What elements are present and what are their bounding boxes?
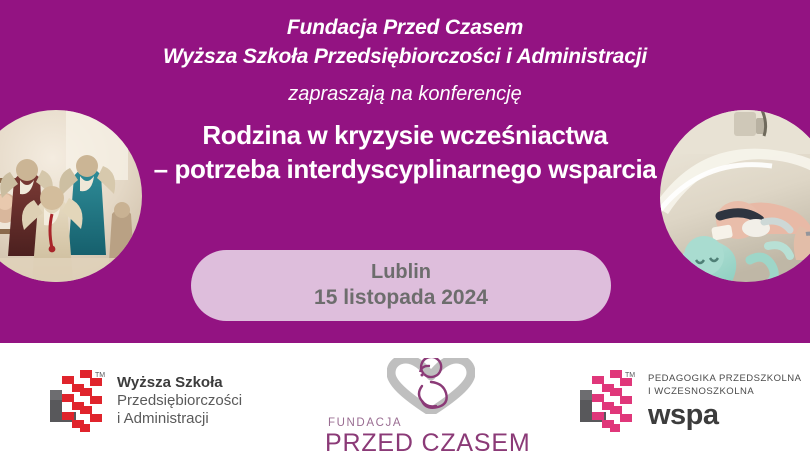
event-details-pill: Lublin 15 listopada 2024 — [191, 250, 611, 321]
invitation-line: zapraszają na konferencję — [0, 81, 810, 107]
heart-baby-icon — [387, 358, 475, 419]
pedagogika-line-1: PEDAGOGIKA PRZEDSZKOLNA — [648, 372, 802, 385]
logo-wyzsza-szkola: TM Wyższa Szkoła Przedsiębiorczości i Ad… — [48, 368, 242, 434]
trademark-symbol: TM — [95, 372, 105, 379]
title-line-2: – potrzeba interdyscyplinarnego wsparcia — [0, 152, 810, 186]
wspa-wordmark: wspa — [648, 400, 802, 431]
event-date: 15 listopada 2024 — [314, 284, 488, 311]
logo-fundacja-przed-czasem: FUNDACJA PRZED CZASEM — [325, 358, 530, 456]
organizers-block: Fundacja Przed Czasem Wyższa Szkoła Prze… — [0, 13, 810, 71]
logo-pedagogika-wspa: TM PEDAGOGIKA PRZEDSZKOLNA I WCZESNOSZKO… — [578, 368, 802, 434]
wspa-name-line-3: i Administracji — [117, 410, 242, 428]
fundacja-big-word: PRZED CZASEM — [325, 429, 530, 456]
pedagogika-line-2: I WCZESNOSZKOLNA — [648, 385, 802, 398]
conference-poster: Fundacja Przed Czasem Wyższa Szkoła Prze… — [0, 0, 810, 456]
wspa-pink-mark-icon: TM — [578, 368, 636, 434]
title-line-1: Rodzina w kryzysie wcześniactwa — [0, 118, 810, 152]
trademark-symbol: TM — [625, 372, 635, 379]
conference-title: Rodzina w kryzysie wcześniactwa – potrze… — [0, 118, 810, 186]
wspa-name-line-1: Wyższa Szkoła — [117, 374, 242, 392]
event-city: Lublin — [371, 260, 431, 284]
fundacja-small-word: FUNDACJA — [328, 417, 402, 429]
organizer-line-2: Wyższa Szkoła Przedsiębiorczości i Admin… — [0, 42, 810, 71]
wspa-name-line-2: Przedsiębiorczości — [117, 392, 242, 410]
hero-text-block: Fundacja Przed Czasem Wyższa Szkoła Prze… — [0, 0, 810, 186]
hero-banner: Fundacja Przed Czasem Wyższa Szkoła Prze… — [0, 0, 810, 343]
wspa-mark-icon: TM — [48, 368, 106, 434]
organizer-line-1: Fundacja Przed Czasem — [0, 13, 810, 42]
